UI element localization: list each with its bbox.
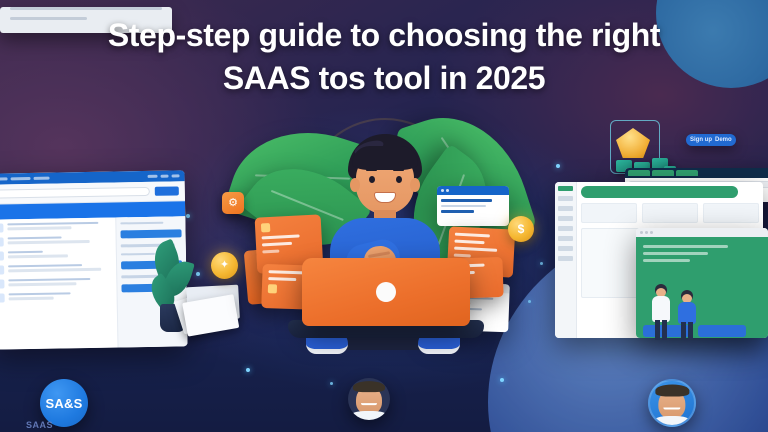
signup-button[interactable]: Sign up [690,137,712,143]
network-dot [500,378,504,382]
list-item-icon [0,223,4,232]
hero-banner: Step-step guide to choosing the right SA… [0,0,768,432]
footer-caption: SAAS [26,420,53,430]
sidebar-item[interactable] [558,246,573,251]
decor-papers [174,277,251,342]
list-item-icon [0,265,4,274]
network-dot [556,164,560,168]
list-item[interactable] [0,236,111,247]
list-item-icon [0,279,4,288]
right-dashboard-sidebar[interactable] [555,182,577,338]
sidebar-item[interactable] [558,206,573,211]
sidebar-item[interactable] [558,226,573,231]
brand-badge-label: SA&S [46,396,83,411]
list-item[interactable] [0,222,110,233]
coin-left-glyph: ✦ [220,260,229,271]
kpi-card[interactable] [581,203,637,223]
list-item-icon [0,237,4,246]
cta-pill-group[interactable]: Sign up Demo [686,134,736,146]
coin-node-right: $ [508,216,534,242]
list-item[interactable] [0,250,111,261]
square-badge-icon: ⚙ [222,192,244,214]
title-line-1: Step-step guide to choosing the right [108,17,660,53]
laptop [302,258,470,326]
kpi-card[interactable] [642,203,698,223]
network-dot [246,368,250,372]
sidebar-item-home[interactable] [558,186,573,191]
network-dot [540,262,543,265]
coin-right-glyph: $ [518,223,525,235]
demo-button[interactable]: Demo [715,137,732,143]
sidebar-item[interactable] [558,256,573,261]
list-item-icon [0,293,5,302]
sidebar-item[interactable] [558,216,573,221]
left-window-list [0,218,118,350]
sidebar-item[interactable] [558,236,573,241]
list-item-icon [0,251,4,260]
kpi-card[interactable] [703,203,759,223]
network-dot [196,272,200,276]
coin-node-left: ✦ [211,252,238,279]
primary-button[interactable] [155,186,179,195]
square-badge-glyph: ⚙ [228,198,238,209]
network-dot [330,382,333,385]
detail-action-button[interactable] [120,230,181,239]
title-line-2: SAAS tos tool in 2025 [34,57,734,100]
avatar-right[interactable] [648,379,696,427]
illustrated-person-right [676,290,698,340]
sidebar-item[interactable] [558,196,573,201]
card-icon [261,223,270,232]
promo-card-titlebar [636,228,768,237]
page-title: Step-step guide to choosing the right SA… [0,14,768,100]
network-dot [186,214,190,218]
list-item[interactable] [0,278,111,289]
avatar-center[interactable] [348,378,390,420]
network-dot [528,300,531,303]
list-item[interactable] [0,264,111,275]
illustrated-person-left [650,284,672,340]
search-input[interactable] [0,187,150,199]
card-icon [268,284,277,293]
list-item[interactable] [0,292,112,303]
laptop-logo [376,282,396,302]
promo-cta-secondary[interactable] [698,325,746,337]
browser-tab-strip[interactable] [625,168,768,178]
dashboard-banner [581,186,738,198]
